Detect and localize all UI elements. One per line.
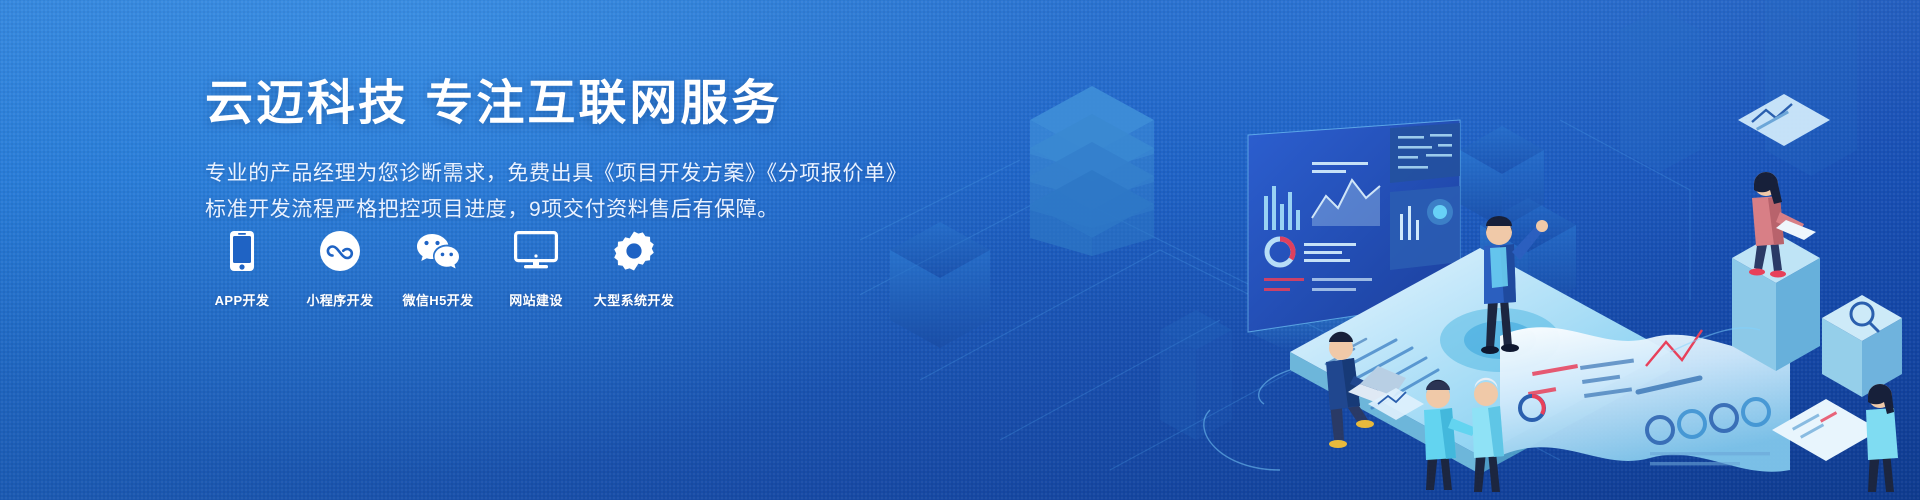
service-item-app[interactable]: APP开发 xyxy=(205,228,279,309)
hero-banner: 云迈科技 专注互联网服务 专业的产品经理为您诊断需求，免费出具《项目开发方案》《… xyxy=(0,0,1920,500)
desktop-monitor-icon xyxy=(514,228,558,274)
page-title: 云迈科技 专注互联网服务 xyxy=(205,74,925,134)
gear-icon xyxy=(613,228,655,274)
service-item-website[interactable]: 网站建设 xyxy=(499,228,573,309)
service-item-mini-program[interactable]: 小程序开发 xyxy=(303,228,377,309)
service-label: 网站建设 xyxy=(509,290,563,309)
wechat-icon xyxy=(415,228,461,274)
service-label: 微信H5开发 xyxy=(402,290,473,309)
hero-subtitle: 专业的产品经理为您诊断需求，免费出具《项目开发方案》《分项报价单》 标准开发流程… xyxy=(205,156,925,228)
service-item-large-system[interactable]: 大型系统开发 xyxy=(597,228,671,309)
mini-program-icon xyxy=(319,228,361,274)
subtitle-line-2: 标准开发流程严格把控项目进度，9项交付资料售后有保障。 xyxy=(205,192,925,228)
service-label: APP开发 xyxy=(215,290,270,309)
subtitle-line-1: 专业的产品经理为您诊断需求，免费出具《项目开发方案》《分项报价单》 xyxy=(205,156,925,192)
service-icon-list: APP开发 小程序开发 微信 xyxy=(205,228,671,309)
service-label: 大型系统开发 xyxy=(594,290,674,309)
hero-copy: 云迈科技 专注互联网服务 专业的产品经理为您诊断需求，免费出具《项目开发方案》《… xyxy=(205,74,925,228)
service-label: 小程序开发 xyxy=(306,290,373,309)
mobile-phone-icon xyxy=(229,228,255,274)
service-item-wechat-h5[interactable]: 微信H5开发 xyxy=(401,228,475,309)
isometric-illustration xyxy=(860,0,1920,500)
